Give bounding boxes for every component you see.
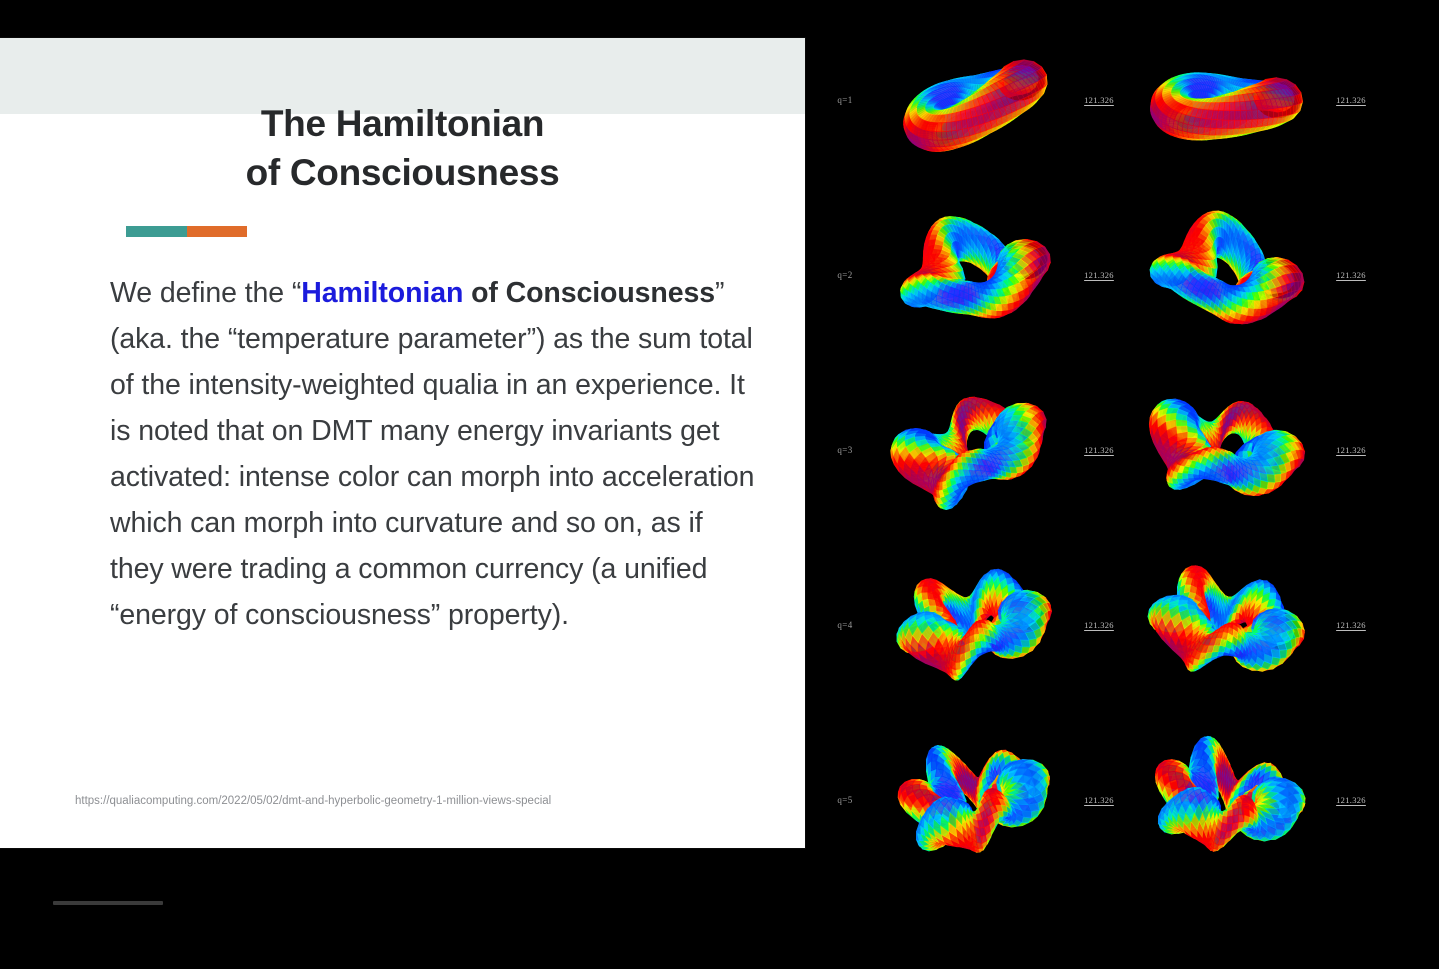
slide-title-line-1: The Hamiltonian xyxy=(58,100,747,149)
render-cell-label: 121.326 xyxy=(1062,620,1136,630)
slide-title-line-2: of Consciousness xyxy=(58,149,747,198)
render-cell-label: 121.326 xyxy=(1314,445,1388,455)
render-cell-label: 121.326 xyxy=(1062,795,1136,805)
slide-title: The Hamiltonian of Consciousness xyxy=(0,100,805,198)
slide-body-text: We define the “Hamiltonian of Consciousn… xyxy=(110,270,760,638)
render-row-label: q=3 xyxy=(806,445,884,455)
wireframe-torus-render xyxy=(1141,20,1309,180)
bottom-left-tick-mark xyxy=(53,901,163,905)
render-cell xyxy=(884,362,1062,537)
render-row: q=3121.326121.326 xyxy=(806,362,1439,537)
render-cell-label: 121.326 xyxy=(1314,95,1388,105)
render-row: q=4121.326121.326 xyxy=(806,537,1439,712)
render-cell xyxy=(1136,187,1314,362)
wireframe-torus-render xyxy=(889,370,1057,530)
render-cell-label: 121.326 xyxy=(1314,795,1388,805)
body-prefix: We define the “ xyxy=(110,277,301,309)
render-row-label: q=4 xyxy=(806,620,884,630)
render-cell xyxy=(884,187,1062,362)
wireframe-torus-render xyxy=(1141,370,1309,530)
render-cell xyxy=(1136,12,1314,187)
render-row-label: q=2 xyxy=(806,270,884,280)
title-divider-bar xyxy=(126,226,247,237)
wireframe-torus-render xyxy=(1141,195,1309,355)
render-row: q=1121.326121.326 xyxy=(806,12,1439,187)
render-cell xyxy=(1136,362,1314,537)
render-row: q=2121.326121.326 xyxy=(806,187,1439,362)
wireframe-torus-render xyxy=(889,545,1057,705)
divider-segment-orange xyxy=(187,226,248,237)
render-cell xyxy=(1136,712,1314,887)
render-row-label: q=5 xyxy=(806,795,884,805)
wireframe-torus-render xyxy=(889,20,1057,180)
divider-segment-teal xyxy=(126,226,187,237)
screen-capture-stage: The Hamiltonian of Consciousness We defi… xyxy=(0,0,1439,969)
presentation-slide: The Hamiltonian of Consciousness We defi… xyxy=(0,38,805,848)
body-bold-tail: of Consciousness xyxy=(463,277,715,309)
wireframe-torus-render xyxy=(1141,720,1309,880)
wireframe-torus-render xyxy=(889,720,1057,880)
render-row: q=5121.326121.326 xyxy=(806,712,1439,887)
render-row-label: q=1 xyxy=(806,95,884,105)
render-cell-label: 121.326 xyxy=(1062,445,1136,455)
body-highlight-hamiltonian: Hamiltonian xyxy=(301,277,463,309)
render-cell xyxy=(884,537,1062,712)
body-rest: ” (aka. the “temperature parameter”) as … xyxy=(110,277,754,631)
render-cell xyxy=(1136,537,1314,712)
render-cell-label: 121.326 xyxy=(1062,270,1136,280)
render-cell-label: 121.326 xyxy=(1314,620,1388,630)
wireframe-torus-render xyxy=(889,195,1057,355)
render-cell-label: 121.326 xyxy=(1314,270,1388,280)
wireframe-torus-render xyxy=(1141,545,1309,705)
slide-source-url: https://qualiacomputing.com/2022/05/02/d… xyxy=(75,793,765,811)
render-cell xyxy=(884,12,1062,187)
render-cell xyxy=(884,712,1062,887)
render-cell-label: 121.326 xyxy=(1062,95,1136,105)
render-grid-panel: q=1121.326121.326q=2121.326121.326q=3121… xyxy=(806,0,1439,969)
